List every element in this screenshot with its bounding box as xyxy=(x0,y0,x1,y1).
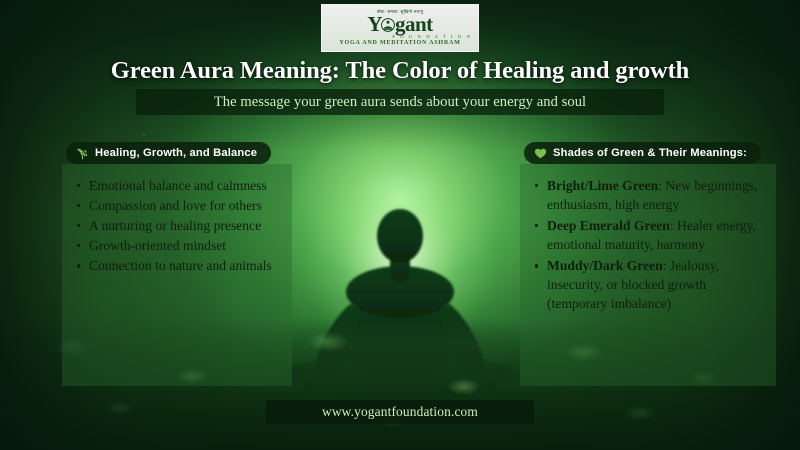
meditating-figure-emblem-icon xyxy=(381,16,395,34)
section-header-healing-label: Healing, Growth, and Balance xyxy=(95,147,257,159)
healing-panel: Emotional balance and calmness Compassio… xyxy=(62,164,292,386)
section-header-shades-label: Shades of Green & Their Meanings: xyxy=(553,147,747,159)
infographic-canvas: लोक: समस्त: सुखिनो भवन्तु Y gant F O U N… xyxy=(0,0,800,450)
shades-panel: Bright/Lime Green: New beginnings, enthu… xyxy=(520,164,776,386)
logo-letter-y: Y xyxy=(367,15,382,34)
list-item: Connection to nature and animals xyxy=(74,256,278,275)
shade-label: Muddy/Dark Green xyxy=(547,258,663,273)
section-header-shades: Shades of Green & Their Meanings: xyxy=(524,142,761,164)
shades-list: Bright/Lime Green: New beginnings, enthu… xyxy=(532,176,762,313)
list-item: Bright/Lime Green: New beginnings, enthu… xyxy=(532,176,762,214)
list-item: Compassion and love for others xyxy=(74,196,278,215)
shade-label: Bright/Lime Green xyxy=(547,178,658,193)
shade-label: Deep Emerald Green xyxy=(547,218,670,233)
subtitle-text: The message your green aura sends about … xyxy=(214,94,586,111)
list-item: Deep Emerald Green: Healer energy, emoti… xyxy=(532,216,762,254)
green-heart-icon xyxy=(534,147,547,160)
list-item: Growth-oriented mindset xyxy=(74,236,278,255)
logo-letters-gant: gant xyxy=(395,15,433,34)
list-item: A nurturing or healing presence xyxy=(74,216,278,235)
website-url[interactable]: www.yogantfoundation.com xyxy=(322,404,478,420)
page-title: Green Aura Meaning: The Color of Healing… xyxy=(0,57,800,85)
brand-logo: लोक: समस्त: सुखिनो भवन्तु Y gant F O U N… xyxy=(321,4,479,52)
subtitle-banner: The message your green aura sends about … xyxy=(136,89,664,115)
section-header-healing: Healing, Growth, and Balance xyxy=(66,142,271,164)
herb-leaf-icon xyxy=(76,147,89,160)
logo-wordmark: Y gant xyxy=(367,15,432,34)
list-item: Emotional balance and calmness xyxy=(74,176,278,195)
footer-banner: www.yogantfoundation.com xyxy=(266,400,534,424)
logo-tagline: YOGA AND MEDITATION ASHRAM xyxy=(339,40,460,46)
list-item: Muddy/Dark Green: Jealousy, insecurity, … xyxy=(532,256,762,313)
healing-list: Emotional balance and calmness Compassio… xyxy=(74,176,278,275)
